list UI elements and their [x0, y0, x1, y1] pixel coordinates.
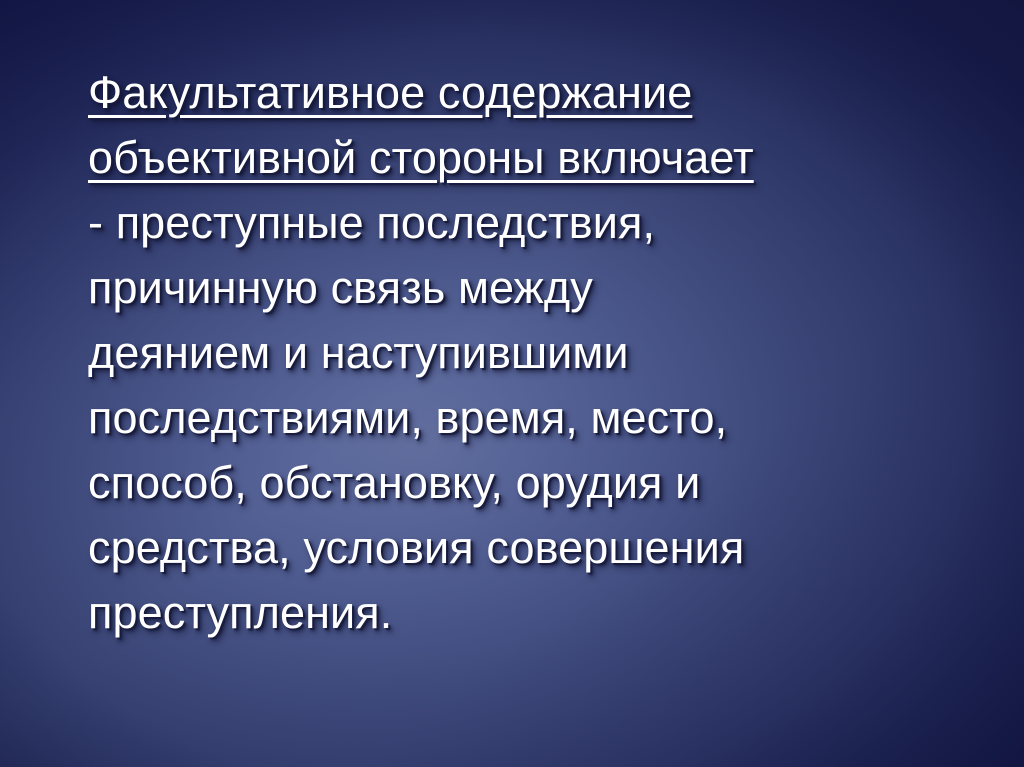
slide-text-line-3: - преступные последствия,	[88, 190, 968, 255]
slide-text-line-6: последствиями, время, место,	[88, 385, 968, 450]
slide-text-line-1: Факультативное содержание	[88, 60, 968, 125]
slide-text-line-7: способ, обстановку, орудия и	[88, 450, 968, 515]
slide-text-line-2: объективной стороны включает	[88, 125, 968, 190]
slide-text-line-4: причинную связь между	[88, 255, 968, 320]
slide-body-text: Факультативное содержание объективной ст…	[88, 60, 968, 645]
slide-text-line-5: деянием и наступившими	[88, 320, 968, 385]
slide-text-line-9: преступления.	[88, 580, 968, 645]
presentation-slide: Факультативное содержание объективной ст…	[0, 0, 1024, 767]
slide-text-line-8: средства, условия совершения	[88, 515, 968, 580]
